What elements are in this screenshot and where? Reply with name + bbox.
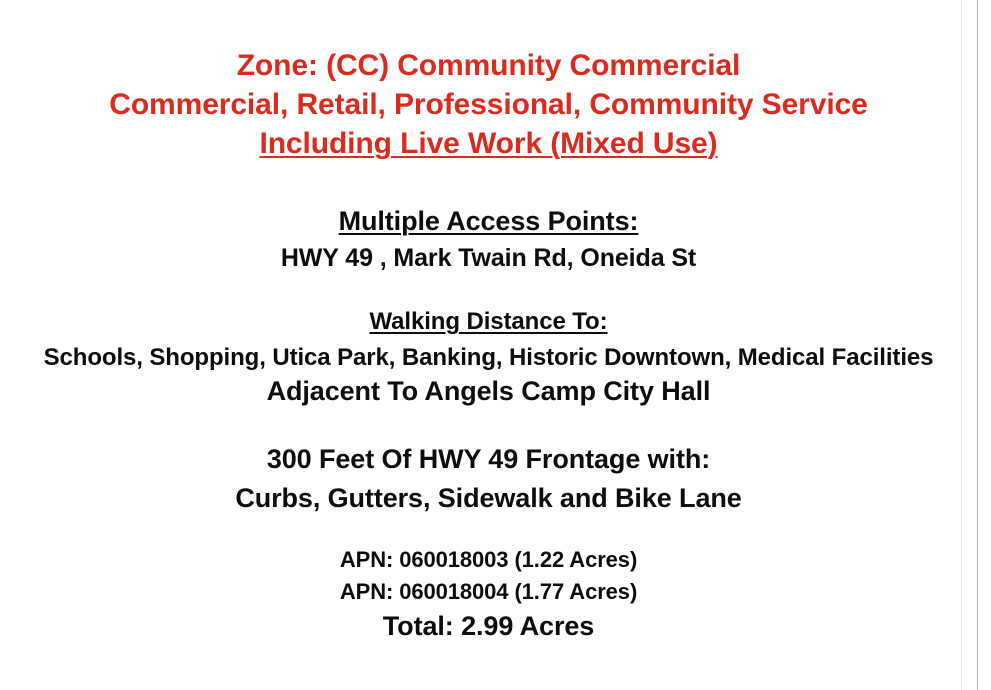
walking-distance-list: Schools, Shopping, Utica Park, Banking, … — [0, 346, 977, 370]
walking-distance-heading: Walking Distance To: — [0, 310, 977, 334]
frontage-block: 300 Feet Of HWY 49 Frontage with: Curbs,… — [0, 446, 977, 524]
flyer-page: Zone: (CC) Community Commercial Commerci… — [0, 0, 991, 690]
walking-distance-block: Walking Distance To: Schools, Shopping, … — [0, 310, 977, 405]
zone-heading-line-2: Commercial, Retail, Professional, Commun… — [0, 90, 977, 120]
parcel-total-acres: Total: 2.99 Acres — [0, 613, 977, 640]
parcels-block: APN: 060018003 (1.22 Acres) APN: 0600180… — [0, 549, 977, 640]
parcel-apn-1: APN: 060018003 (1.22 Acres) — [0, 549, 977, 571]
zone-heading-line-3-text: Including Live Work (Mixed Use) — [259, 127, 717, 160]
zone-heading-block: Zone: (CC) Community Commercial Commerci… — [0, 51, 977, 168]
access-points-heading: Multiple Access Points: — [0, 208, 977, 235]
page-edge-rule-outer — [977, 0, 978, 690]
walking-distance-heading-text: Walking Distance To: — [369, 308, 607, 335]
access-points-block: Multiple Access Points: HWY 49 , Mark Tw… — [0, 208, 977, 271]
frontage-line-2: Curbs, Gutters, Sidewalk and Bike Lane — [0, 485, 977, 512]
access-points-heading-text: Multiple Access Points: — [339, 206, 639, 236]
zone-heading-line-3: Including Live Work (Mixed Use) — [0, 129, 977, 159]
frontage-line-1: 300 Feet Of HWY 49 Frontage with: — [0, 446, 977, 473]
flyer-content: Zone: (CC) Community Commercial Commerci… — [0, 0, 977, 690]
access-points-detail: HWY 49 , Mark Twain Rd, Oneida St — [0, 246, 977, 271]
zone-heading-line-1: Zone: (CC) Community Commercial — [0, 51, 977, 81]
parcel-apn-2: APN: 060018004 (1.77 Acres) — [0, 581, 977, 603]
walking-distance-detail: Adjacent To Angels Camp City Hall — [0, 378, 977, 405]
